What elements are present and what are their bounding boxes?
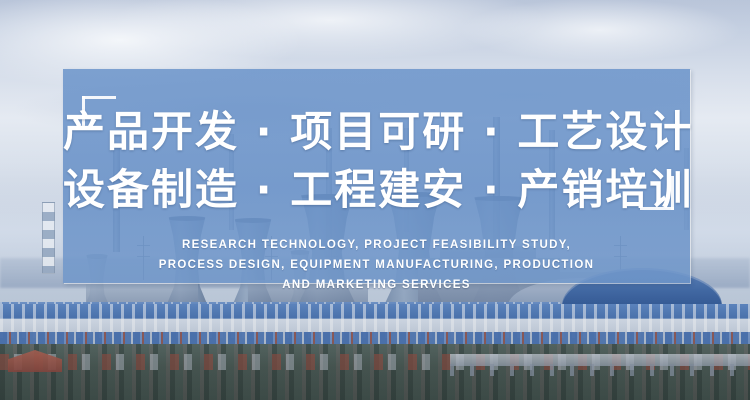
headline-block: 产品开发 · 项目可研 · 工艺设计 设备制造 · 工程建安 · 产销培训 [63,103,690,219]
subheadline-text: RESEARCH TECHNOLOGY, PROJECT FEASIBILITY… [158,235,595,295]
headline-line-1: 产品开发 · 项目可研 · 工艺设计 [63,103,690,161]
promo-banner: 产品开发 · 项目可研 · 工艺设计 设备制造 · 工程建安 · 产销培训 RE… [0,0,750,400]
headline-line-2: 设备制造 · 工程建安 · 产销培训 [63,161,690,219]
elevated-roadway [450,354,750,366]
striped-chimney [42,202,55,274]
text-overlay-panel: 产品开发 · 项目可研 · 工艺设计 设备制造 · 工程建安 · 产销培训 RE… [63,69,690,283]
